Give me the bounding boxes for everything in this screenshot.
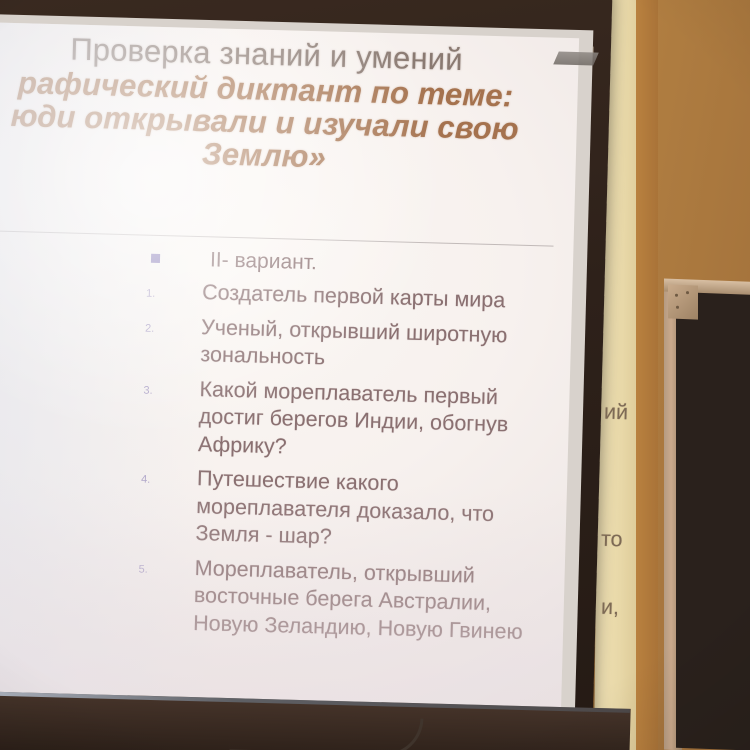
overspill-fragment: ий — [604, 400, 629, 426]
square-bullet-icon — [151, 254, 160, 263]
list-item-text: Ученый, открывший широтную зональность — [200, 314, 563, 379]
left-line: го глобуса — [0, 261, 46, 294]
left-line: тешествие? — [0, 332, 44, 365]
left-line: тавившего — [0, 374, 43, 407]
list-item-text: Путешествие какого мореплавателя доказал… — [195, 465, 559, 557]
chalkboard-bracket — [668, 284, 698, 319]
overspill-fragment: и, — [601, 595, 620, 620]
left-line: ученый, — [0, 588, 37, 621]
list-item: 5. Мореплаватель, открывший восточные бе… — [135, 553, 557, 647]
left-line: з Испании в — [0, 501, 39, 534]
screen-handle-icon — [553, 52, 599, 66]
list-item: 4. Путешествие какого мореплавателя дока… — [137, 464, 559, 558]
list-item-number: 5. — [138, 553, 165, 576]
left-line: в поисках — [0, 530, 39, 563]
left-line: ский океан — [0, 402, 42, 435]
list-item: 2. Ученый, открывший широтную зональност… — [142, 312, 563, 378]
variant-heading-row: II- вариант. — [145, 245, 566, 284]
list-item-number: 4. — [141, 464, 168, 487]
list-item: 1. Создатель первой карты мира — [144, 278, 565, 317]
left-line: э — [0, 431, 41, 464]
list-item-text: Мореплаватель, открывший восточные берег… — [193, 555, 557, 647]
left-line: кспедицию, — [0, 473, 40, 506]
power-cable — [230, 713, 424, 750]
right-column: II- вариант. 1. Создатель первой карты м… — [135, 245, 566, 655]
left-column-clipped: го глобуса рвое тешествие? тавившего ски… — [0, 261, 46, 650]
chalkboard — [676, 286, 750, 750]
screw-icon — [686, 291, 689, 294]
screw-icon — [675, 294, 678, 297]
list-item: 3. Какой мореплаватель первый достиг бер… — [140, 374, 562, 468]
slide-body: го глобуса рвое тешествие? тавившего ски… — [0, 240, 573, 256]
list-item-number: 2. — [145, 312, 172, 335]
list-item-number: 1. — [146, 278, 173, 301]
left-line: рвое — [0, 303, 45, 336]
list-item-number: 3. — [143, 374, 170, 397]
wall-edge-strip — [636, 0, 658, 750]
projected-slide: Проверка знаний и умений рафический дикт… — [0, 22, 579, 722]
overspill-fragment: то — [601, 527, 623, 553]
list-item-text: Создатель первой карты мира — [202, 279, 506, 315]
left-line: ание науке — [0, 616, 36, 649]
list-item-text: Какой мореплаватель первый достиг берего… — [198, 376, 562, 468]
title-divider — [0, 229, 554, 246]
variant-heading-label: II- вариант. — [210, 246, 318, 276]
classroom-photo: Проверка знаний и умений рафический дикт… — [0, 0, 750, 750]
slide-title: Проверка знаний и умений рафический дикт… — [0, 30, 573, 181]
screw-icon — [676, 306, 679, 309]
